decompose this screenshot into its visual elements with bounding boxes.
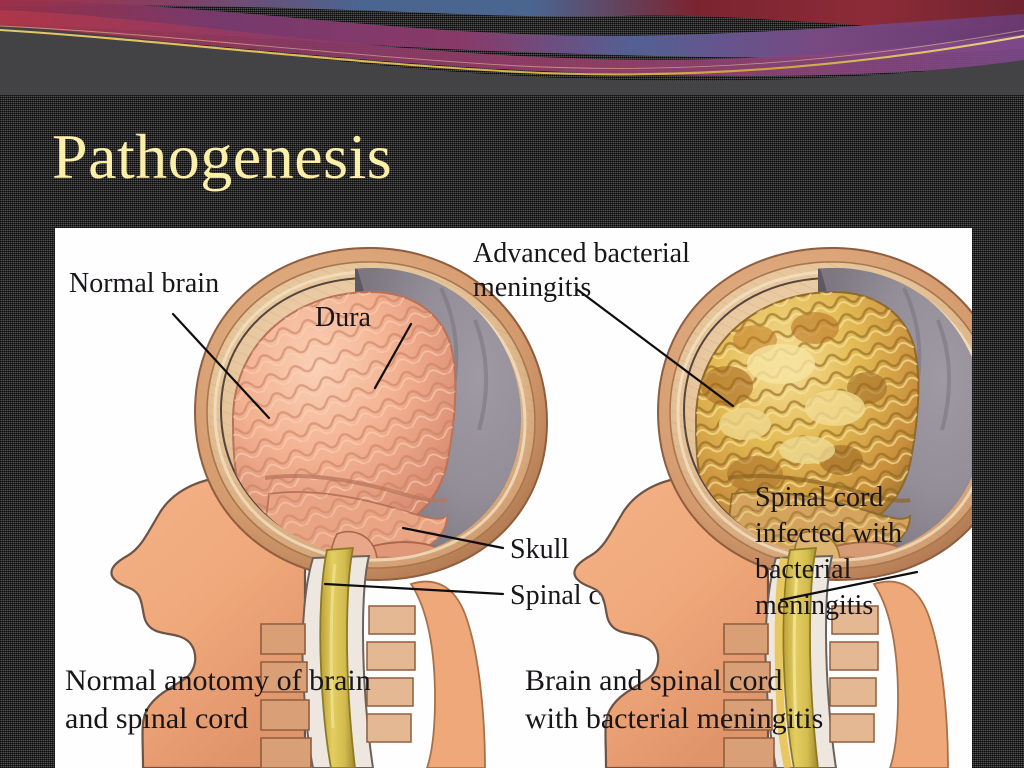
label-normal-brain: Normal brain <box>69 268 219 299</box>
label-advanced-meningitis-line2: meningitis <box>473 272 591 303</box>
caption-normal-line1: Normal anotomy of brain <box>65 664 371 697</box>
label-advanced-meningitis-line1: Advanced bacterial <box>473 238 690 269</box>
label-spinal-cord-infected-line1: Spinal cord <box>755 482 883 513</box>
figure-panel: Normal brain Dura Skull Spinal cord Norm… <box>55 228 972 768</box>
label-skull: Skull <box>510 534 569 565</box>
label-spinal-cord-infected-line2: infected with <box>755 518 902 549</box>
caption-infected-line1: Brain and spinal cord <box>525 664 782 697</box>
header-wave-decoration <box>0 0 1024 95</box>
label-dura: Dura <box>315 302 372 333</box>
label-spinal-cord-infected-line3: bacterial <box>755 554 852 585</box>
caption-normal-line2: and spinal cord <box>65 702 248 735</box>
page-title: Pathogenesis <box>52 122 392 191</box>
caption-infected-line2: with bacterial meningitis <box>525 702 823 735</box>
slide: Pathogenesis <box>0 0 1024 768</box>
label-spinal-cord-infected-line4: meningitis <box>755 590 873 621</box>
brain-meningitis-illustration: Normal brain Dura Skull Spinal cord Norm… <box>55 228 972 768</box>
